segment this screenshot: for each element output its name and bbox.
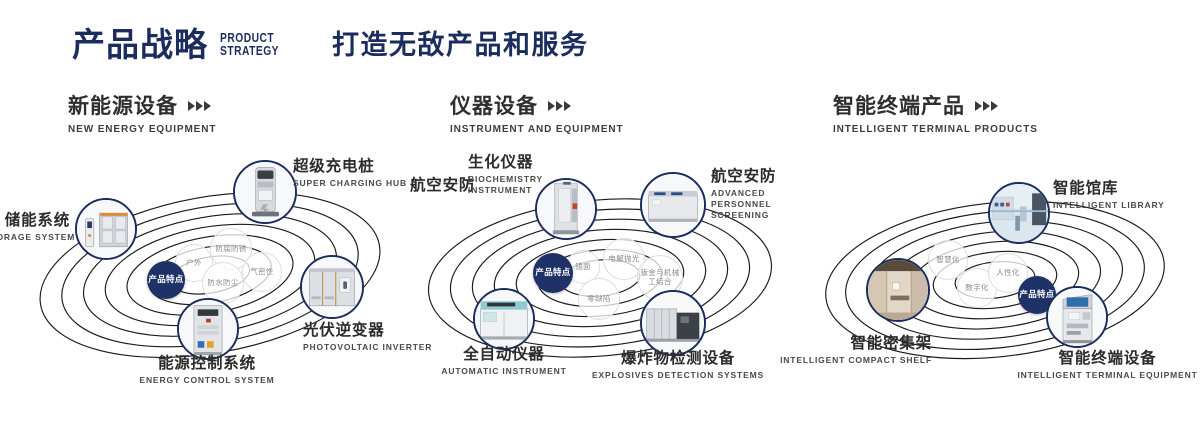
section-title-cn: 智能终端产品 [833,96,965,117]
brand-title-en: PRODUCT STRATEGY [220,32,279,61]
charging-pile-icon [235,162,295,222]
smart-kiosk-icon [1048,288,1106,346]
explosives-detector-icon [642,292,704,354]
personnel-screening-icon [642,174,704,236]
section-title-cn: 新能源设备 [68,96,178,117]
label-energy-control: 能源控制系统 ENERGY CONTROL SYSTEM [117,355,297,386]
section-title-cn: 仪器设备 [450,96,538,117]
label-biochemistry-instrument: 生化仪器 BIOCHEMISTRY INSTRUMENT [468,154,588,196]
node-smart-terminal[interactable] [1046,286,1108,348]
chevron-right-icon [548,101,571,111]
compact-shelf-icon [868,260,928,320]
brand-title-cn: 产品战略 [72,28,208,61]
label-aviation-security: 航空安防 [410,177,475,195]
node-personnel-screening[interactable] [640,172,706,238]
chevron-right-icon [975,101,998,111]
energy-storage-cabinet-icon [77,200,135,258]
smart-library-icon [990,184,1048,242]
node-pv-inverter[interactable] [300,255,364,319]
chevron-right-icon [188,101,211,111]
section-title-en: INSTRUMENT AND EQUIPMENT [450,124,623,135]
page-header: 产品战略 PRODUCT STRATEGY 打造无敌产品和服务 [0,0,1200,88]
feature-bubble: 零缺陷 [578,278,620,320]
node-energy-storage[interactable] [75,198,137,260]
section-title-intelligent-terminal: 智能终端产品 INTELLIGENT TERMINAL PRODUCTS [833,96,1038,135]
brand-lockup: 产品战略 PRODUCT STRATEGY [72,28,292,61]
page-headline: 打造无敌产品和服务 [332,32,589,59]
label-automatic-instrument: 全自动仪器 AUTOMATIC INSTRUMENT [424,346,584,377]
section-title-en: INTELLIGENT TERMINAL PRODUCTS [833,124,1038,135]
node-charging-pile[interactable] [233,160,297,224]
node-explosives-detection[interactable] [640,290,706,356]
core-badge: 产品特点 [147,261,185,299]
node-automatic-instrument[interactable] [473,288,535,350]
brand-en-line2: STRATEGY [220,45,279,58]
node-energy-control[interactable] [177,298,239,360]
section-title-instrument: 仪器设备 INSTRUMENT AND EQUIPMENT [450,96,623,135]
diagram-new-energy: 户外 防腐防锈 气密性 防水防尘 产品特点 储能系统 ENERGY STORAG… [5,150,405,400]
label-smart-library: 智能馆库 INTELLIGENT LIBRARY [1053,180,1165,211]
section-title-new-energy: 新能源设备 NEW ENERGY EQUIPMENT [68,96,216,135]
label-charging-pile: 超级充电桩 SUPER CHARGING HUB [293,158,407,189]
diagram-intelligent-terminal: 智慧化 数字化 人性化 产品特点 智能馆库 INTELLIGENT LIBRAR… [800,150,1200,400]
label-smart-terminal: 智能终端设备 INTELLIGENT TERMINAL EQUIPMENT [1015,350,1200,381]
core-badge: 产品特点 [533,253,573,293]
label-personnel-screening: 航空安防 ADVANCED PERSONNEL SCREENING [711,168,800,221]
pv-inverter-cabinet-icon [302,257,362,317]
node-smart-library[interactable] [988,182,1050,244]
label-compact-shelf: 智能密集架 INTELLIGENT COMPACT SHELF [732,335,932,366]
control-cabinet-icon [179,300,237,358]
label-energy-storage: 储能系统 ENERGY STORAGE SYSTEM [0,212,70,243]
feature-bubble: 气密性 [242,252,282,292]
automatic-analyzer-icon [475,290,533,348]
section-title-en: NEW ENERGY EQUIPMENT [68,124,216,135]
node-compact-shelf[interactable] [866,258,930,322]
